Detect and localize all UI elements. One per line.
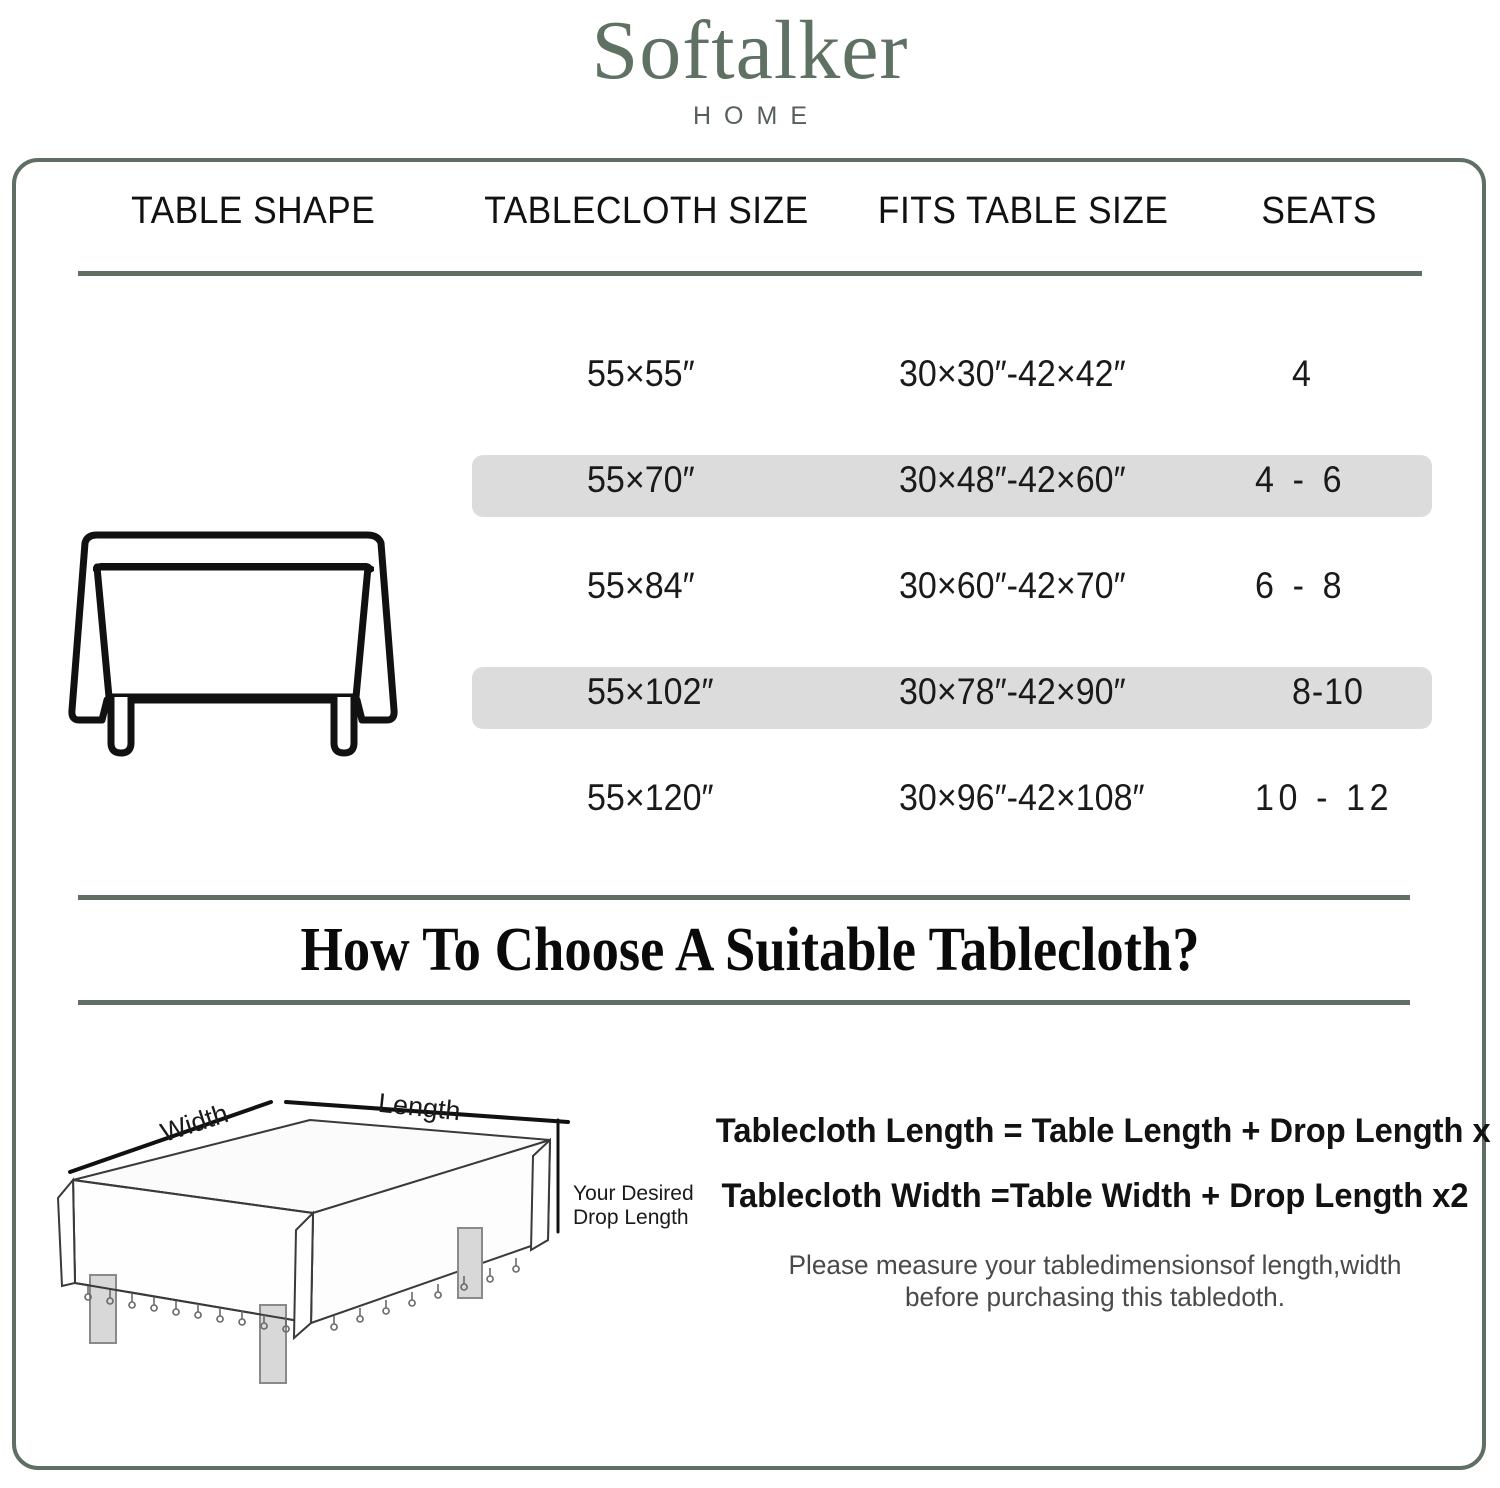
section-title: How To Choose A Suitable Tablecloth? xyxy=(90,915,1410,986)
column-header-fits-table-size: FITS TABLE SIZE xyxy=(878,190,1168,233)
drop-label-line-1: Your Desired xyxy=(573,1182,694,1206)
cell-tablecloth-size: 55×84″ xyxy=(587,565,695,607)
rectangle-table-with-tablecloth-icon xyxy=(22,505,462,775)
cell-seats: 4 - 6 xyxy=(1255,459,1346,501)
formula-block: Tablecloth Length = Table Length + Drop … xyxy=(700,1112,1490,1216)
section-divider-bottom xyxy=(78,1000,1410,1005)
cell-fits-table-size: 30×48″-42×60″ xyxy=(899,459,1126,501)
diagram-label-drop-length: Your Desired Drop Length xyxy=(573,1182,694,1229)
column-header-tablecloth-size: TABLECLOTH SIZE xyxy=(484,190,808,233)
cell-seats: 8-10 xyxy=(1292,671,1364,713)
formula-tablecloth-length: Tablecloth Length = Table Length + Drop … xyxy=(716,1112,1474,1151)
section-divider-top xyxy=(78,895,1410,900)
cell-tablecloth-size: 55×70″ xyxy=(587,459,695,501)
cell-seats: 10 - 12 xyxy=(1255,777,1393,819)
cell-fits-table-size: 30×78″-42×90″ xyxy=(899,671,1126,713)
cell-seats: 4 xyxy=(1292,353,1312,395)
formula-tablecloth-width: Tablecloth Width =Table Width + Drop Len… xyxy=(716,1177,1474,1216)
note-line-2: before purchasing this tabledoth. xyxy=(712,1282,1478,1314)
drop-label-line-2: Drop Length xyxy=(573,1206,694,1230)
cell-tablecloth-size: 55×120″ xyxy=(587,777,714,819)
perspective-table-with-draped-tablecloth-icon xyxy=(28,1080,728,1430)
table-row: 55×120″ 30×96″-42×108″ 10 - 12 xyxy=(12,767,1488,873)
column-header-seats: SEATS xyxy=(1261,190,1377,233)
cell-tablecloth-size: 55×55″ xyxy=(587,353,695,395)
column-header-table-shape: TABLE SHAPE xyxy=(131,190,375,233)
table-header-row: TABLE SHAPE TABLECLOTH SIZE FITS TABLE S… xyxy=(12,190,1488,260)
cell-fits-table-size: 30×30″-42×42″ xyxy=(899,353,1126,395)
brand-logo: Softalker HOME xyxy=(0,8,1500,131)
cell-tablecloth-size: 55×102″ xyxy=(587,671,714,713)
measurement-note: Please measure your tabledimensionsof le… xyxy=(712,1250,1478,1314)
cell-fits-table-size: 30×96″-42×108″ xyxy=(899,777,1145,819)
table-row: 55×55″ 30×30″-42×42″ 4 xyxy=(12,343,1488,449)
header-divider-rule xyxy=(78,271,1422,276)
note-line-1: Please measure your tabledimensionsof le… xyxy=(712,1250,1478,1282)
brand-name: Softalker xyxy=(0,8,1500,94)
cell-seats: 6 - 8 xyxy=(1255,565,1346,607)
cell-fits-table-size: 30×60″-42×70″ xyxy=(899,565,1126,607)
brand-subtitle: HOME xyxy=(0,102,1500,131)
